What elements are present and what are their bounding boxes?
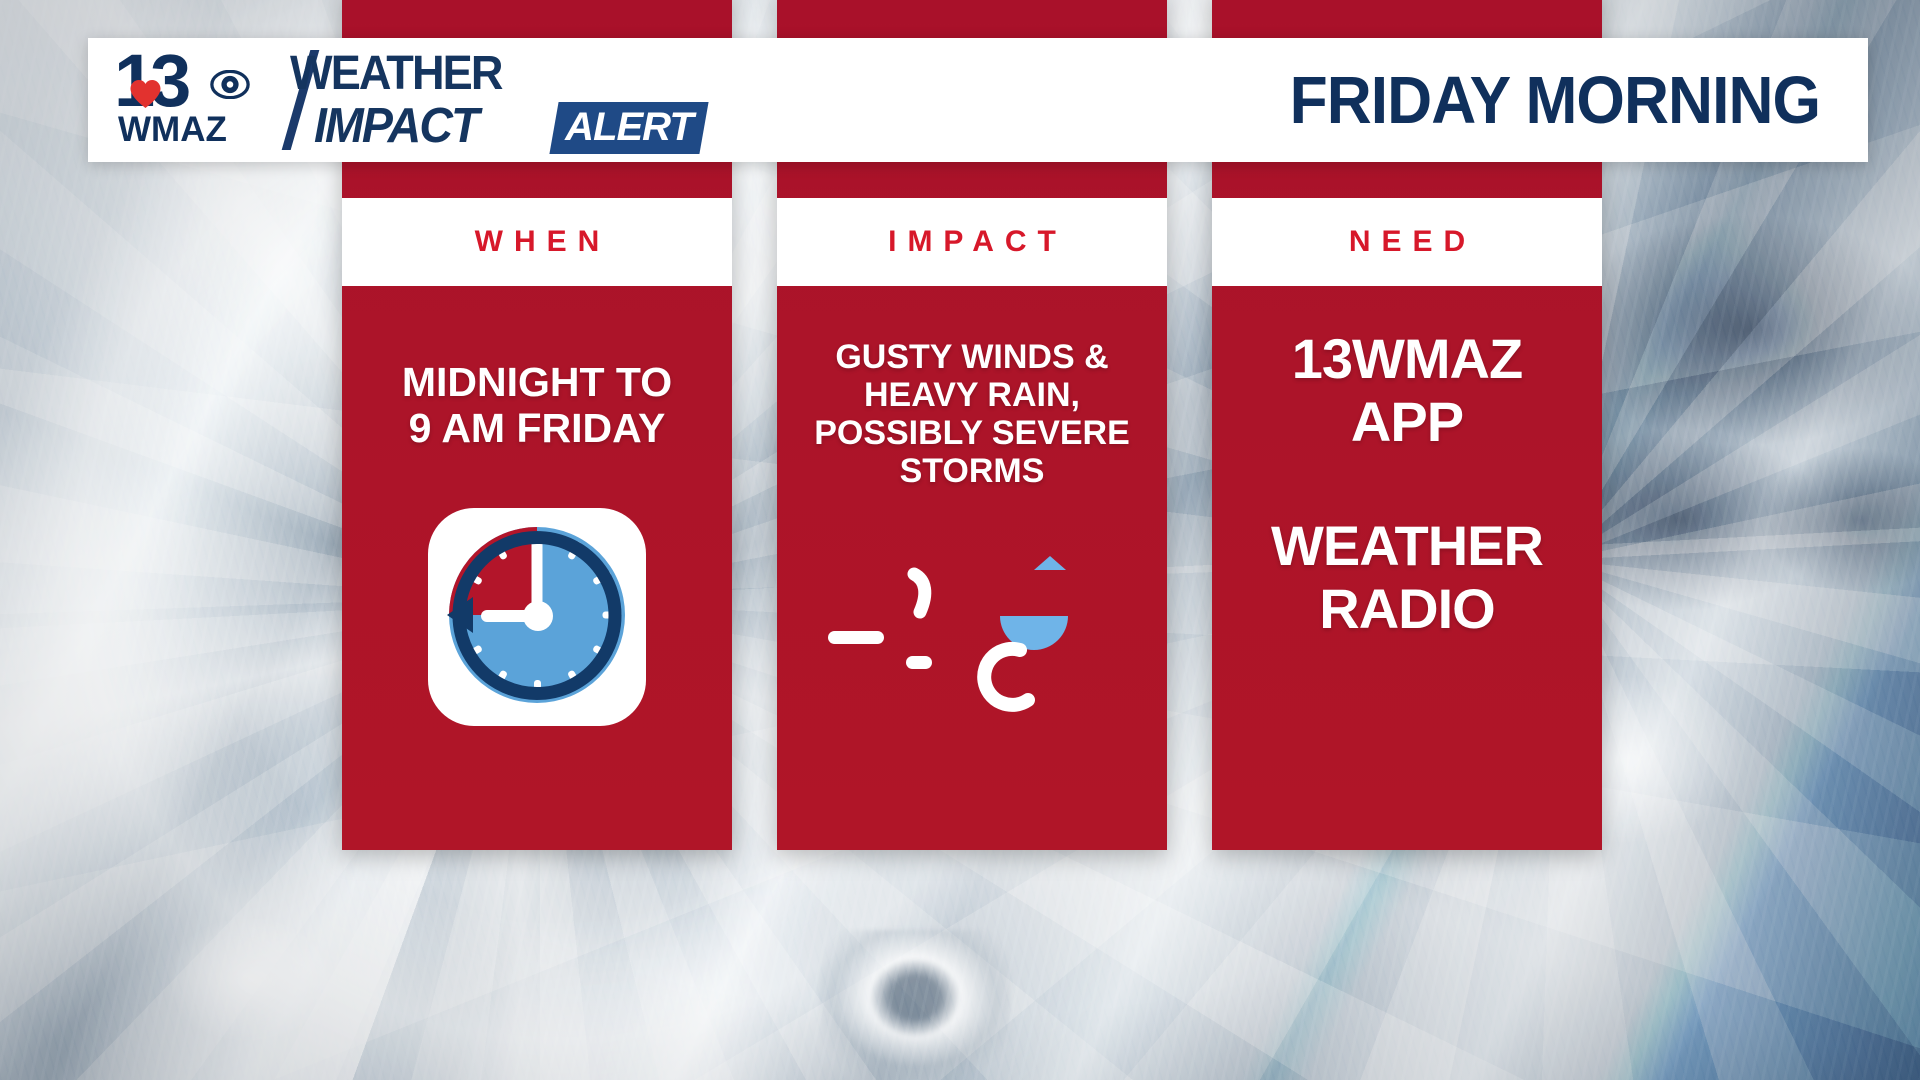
- wind-swirl-stroke: [914, 574, 925, 612]
- clock-arrow-arc: [439, 517, 635, 713]
- brand-alert-badge-label: ALERT: [565, 107, 693, 147]
- heart-icon: [129, 76, 162, 106]
- wind-rain-icon: [822, 538, 1122, 728]
- column-need-body: 13WMAZ APP WEATHER RADIO: [1212, 286, 1602, 850]
- column-impact-header-label: IMPACT: [877, 227, 1067, 257]
- wind-arrow-glyph: [1034, 556, 1066, 570]
- column-when-header-band: WHEN: [342, 198, 732, 286]
- column-impact-title: GUSTY WINDS & HEAVY RAIN, POSSIBLY SEVER…: [804, 338, 1140, 490]
- column-need-title-app: 13WMAZ APP: [1282, 328, 1532, 453]
- column-need-header-band: NEED: [1212, 198, 1602, 286]
- station-logo: 13 WMAZ WEATHER IMPA: [88, 48, 746, 152]
- page-title: FRIDAY MORNING: [1289, 67, 1868, 134]
- column-need-header-label: NEED: [1338, 227, 1476, 257]
- column-when-title: MIDNIGHT TO 9 AM FRIDAY: [392, 360, 682, 452]
- wind-dash-long: [828, 631, 884, 644]
- logo-callsign: WMAZ: [118, 112, 227, 147]
- wind-dash-short: [906, 656, 932, 669]
- column-when-header-label: WHEN: [464, 227, 611, 257]
- column-when-body: MIDNIGHT TO 9 AM FRIDAY: [342, 286, 732, 850]
- brand-impact-text: IMPACT: [314, 102, 478, 151]
- header-bar: 13 WMAZ WEATHER IMPA: [88, 38, 1868, 162]
- cbs-eye-icon: [210, 70, 250, 99]
- wind-circle-swirl: [984, 649, 1028, 705]
- brand-alert-badge: ALERT: [549, 102, 708, 154]
- column-need-title-radio: WEATHER RADIO: [1261, 515, 1553, 640]
- brand-weather-text: WEATHER: [290, 50, 502, 98]
- weather-alert-graphic: WHEN MIDNIGHT TO 9 AM FRIDAY: [0, 0, 1920, 1080]
- weather-impact-alert-lockup: WEATHER IMPACT ALERT: [276, 48, 746, 152]
- column-impact-body: GUSTY WINDS & HEAVY RAIN, POSSIBLY SEVER…: [777, 286, 1167, 850]
- column-impact-header-band: IMPACT: [777, 198, 1167, 286]
- logo-13wmaz: 13 WMAZ: [114, 48, 264, 152]
- clock-icon: [428, 508, 646, 726]
